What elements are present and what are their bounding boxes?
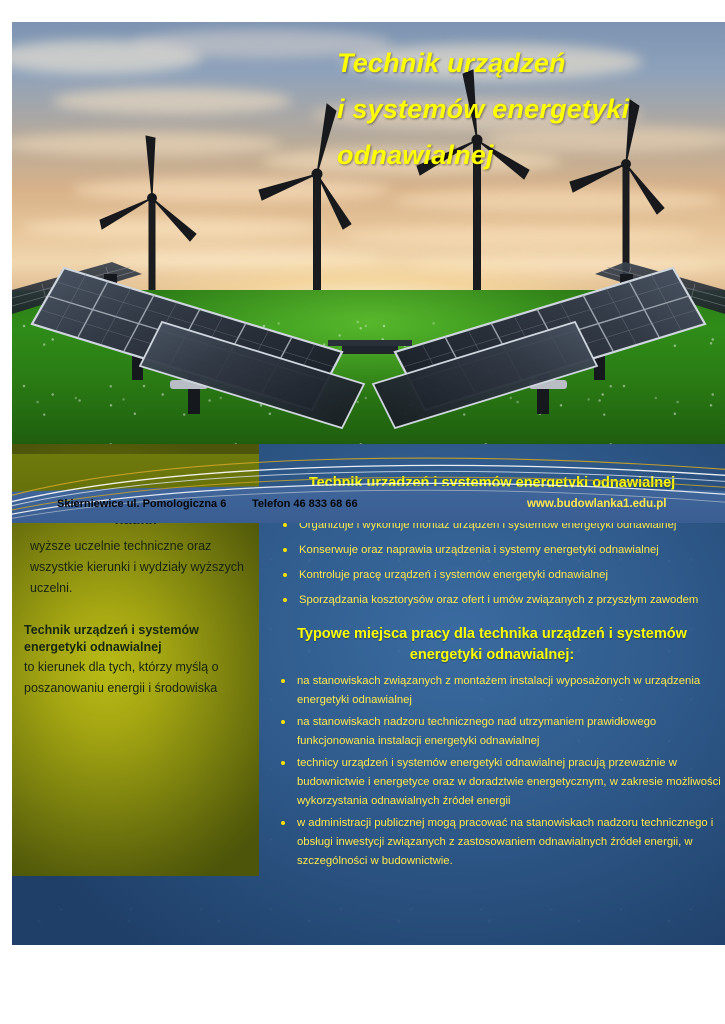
- decorative-arc-lines: [12, 454, 725, 523]
- poster: Technik urządzeń i systemów energetyki o…: [12, 22, 725, 945]
- list-item: na stanowiskach nadzoru technicznego nad…: [269, 713, 721, 751]
- list-item: na stanowiskach związanych z montażem in…: [269, 672, 721, 710]
- tasks-list: Organizuje i wykonuje montaż urządzeń i …: [271, 516, 721, 616]
- list-item: Konserwuje oraz naprawia urządzenia i sy…: [271, 541, 721, 560]
- page-title: Technik urządzeń i systemów energetyki o…: [337, 40, 725, 178]
- title-line-1: Technik urządzeń: [337, 40, 725, 86]
- list-item: Sporządzania kosztorysów oraz ofert i um…: [271, 591, 721, 610]
- title-line-2: i systemów energetyki: [337, 86, 725, 132]
- title-line-3: odnawialnej: [337, 132, 725, 178]
- footer-address: Skierniewice ul. Pomologiczna 6: [57, 498, 226, 510]
- footer-bar: Skierniewice ul. Pomologiczna 6 Telefon …: [12, 454, 725, 523]
- hero-photo: Technik urządzeń i systemów energetyki o…: [12, 22, 725, 444]
- sidebar-paragraph-2: to kierunek dla tych, którzy myślą o pos…: [24, 657, 256, 699]
- sidebar-paragraph-1: wyższe uczelnie techniczne oraz wszystki…: [30, 536, 254, 599]
- list-item: Kontroluje pracę urządzeń i systemów ene…: [271, 566, 721, 585]
- list-item: technicy urządzeń i systemów energetyki …: [269, 754, 721, 811]
- workplaces-list: na stanowiskach związanych z montażem in…: [269, 672, 721, 874]
- footer-website-link[interactable]: www.budowlanka1.edu.pl: [527, 498, 667, 510]
- footer-phone: Telefon 46 833 68 66: [252, 498, 358, 510]
- sidebar-heading-2: Technik urządzeń i systemów energetyki o…: [24, 622, 252, 656]
- workplaces-heading: Typowe miejsca pracy dla technika urządz…: [273, 624, 711, 666]
- list-item: w administracji publicznej mogą pracować…: [269, 814, 721, 871]
